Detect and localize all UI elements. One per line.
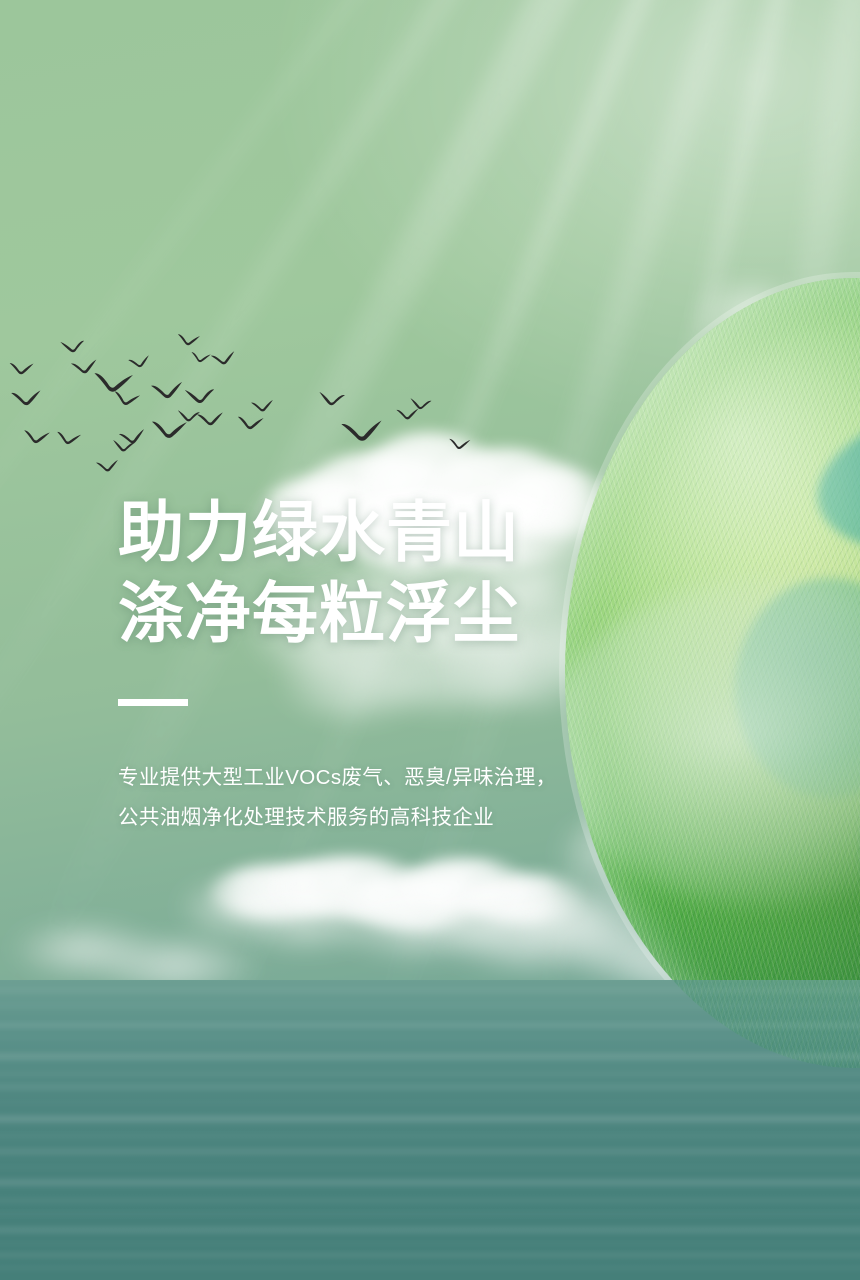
water-ripple-line	[0, 988, 860, 993]
water-ripple-line	[0, 1036, 860, 1039]
water-ripple-line	[0, 1022, 860, 1029]
water-ripple-line	[0, 1166, 860, 1169]
water-ripple-line	[0, 1084, 860, 1090]
water-ripple-line	[0, 1178, 860, 1187]
water-ripple-line	[0, 1226, 860, 1234]
headline-line-1: 助力绿水青山	[118, 492, 678, 573]
water-ripple-line	[0, 1004, 860, 1008]
water-ripple-line	[0, 1266, 860, 1270]
subtitle-line-1: 专业提供大型工业VOCs废气、恶臭/异味治理，	[118, 758, 678, 798]
water-ripple-line	[0, 1148, 860, 1155]
water-surface	[0, 980, 860, 1280]
white-divider-bar	[118, 699, 188, 706]
text-content-block: 助力绿水青山 涤净每粒浮尘 专业提供大型工业VOCs废气、恶臭/异味治理， 公共…	[118, 492, 678, 838]
water-ripple-line	[0, 1198, 860, 1203]
headline-line-2: 涤净每粒浮尘	[118, 573, 678, 654]
water-ripple-line	[0, 1102, 860, 1105]
poster-canvas: 助力绿水青山 涤净每粒浮尘 专业提供大型工业VOCs废气、恶臭/异味治理， 公共…	[0, 0, 860, 1280]
water-ripple-line	[0, 1242, 860, 1245]
water-ripple-line	[0, 1212, 860, 1216]
water-ripple-line	[0, 1072, 860, 1076]
water-ripple-line	[0, 1134, 860, 1138]
water-ripple-line	[0, 1052, 860, 1061]
water-ripple-line	[0, 1252, 860, 1258]
water-ripple-line	[0, 1114, 860, 1124]
subtitle-line-2: 公共油烟净化处理技术服务的高科技企业	[118, 798, 678, 838]
